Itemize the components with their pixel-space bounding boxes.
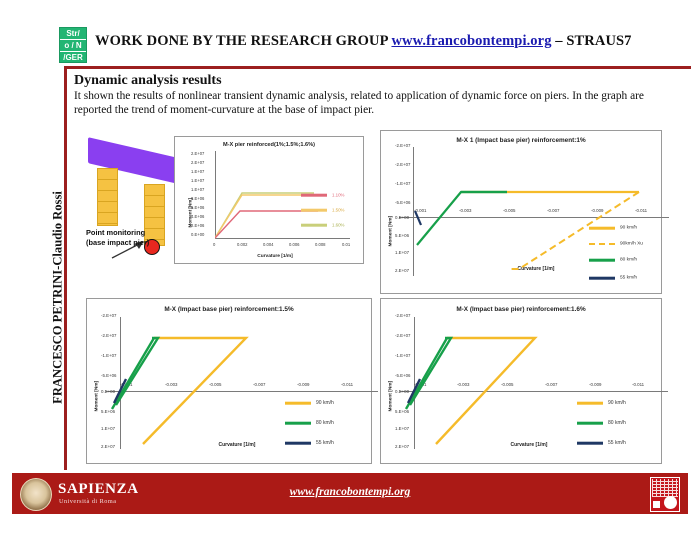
chart3-legend-label-2: 55 km/h — [316, 440, 334, 446]
chart1-ytick-6: 6.E+06 — [191, 205, 204, 210]
stronger-logo: Str/ o / N /GER — [59, 27, 87, 63]
chart2-legend-label-0: 90 km/h — [620, 226, 637, 231]
chart1-ytick-3: 1.E+07 — [191, 178, 204, 183]
chart4-legend-swatch-1 — [577, 422, 603, 425]
chart1-xtick-0: 0 — [213, 242, 215, 247]
chart2-legend-swatch-0 — [589, 227, 615, 230]
chart1-legend-item-1: 1.50% — [301, 206, 361, 214]
chart4-legend-item-0: 90 km/h — [577, 399, 653, 407]
chart-panel-impact-16pc: M-X (Impact base pier) reinforcement:1.6… — [380, 298, 662, 464]
chart3-legend-label-1: 80 km/h — [316, 420, 334, 426]
chart1-ytick-5: 8.E+06 — [191, 196, 204, 201]
chart3-plot-area — [106, 317, 378, 449]
chart1-title: M-X pier reinforced(1%;1.5%;1.6%) — [175, 142, 363, 148]
section-title: Dynamic analysis results — [74, 73, 222, 89]
sapienza-subtitle: Università di Roma — [59, 498, 116, 505]
chart4-legend-swatch-0 — [577, 402, 603, 405]
chart4-legend-swatch-2 — [577, 442, 603, 445]
chart1-legend-item-2: 1.60% — [301, 221, 361, 229]
stronger-logo-line-3: /GER — [60, 52, 86, 64]
chart3-legend-item-2: 55 km/h — [285, 439, 361, 447]
chart1-xtick-3: 0.006 — [289, 242, 299, 247]
chart1-ytick-0: 2.E+07 — [191, 151, 204, 156]
chart4-legend-item-2: 55 km/h — [577, 439, 653, 447]
chart1-legend-item-0: 1.10% — [301, 191, 361, 199]
chart1-ytick-4: 1.E+07 — [191, 187, 204, 192]
chart2-legend-label-1: 90km/h Xu — [620, 242, 643, 247]
chart1-ytick-2: 1.E+07 — [191, 169, 204, 174]
chart1-ylabel: Moment [Nm] — [188, 176, 193, 228]
chart4-legend-label-2: 55 km/h — [608, 440, 626, 446]
chart1-xtick-5: 0.01 — [342, 242, 350, 247]
federation-logo — [650, 477, 680, 512]
chart1-ytick-9: 0.E+00 — [191, 232, 204, 237]
chart1-ytick-7: 4.E+06 — [191, 214, 204, 219]
chart3-legend-swatch-2 — [285, 442, 311, 445]
chart3-legend-item-1: 80 km/h — [285, 419, 361, 427]
footer-website-link[interactable]: www.francobontempi.org — [12, 485, 688, 498]
header-website-link[interactable]: www.francobontempi.org — [391, 33, 551, 49]
chart1-legend-label-1: 1.50% — [332, 208, 344, 213]
chart4-plot-area — [400, 317, 668, 449]
chart2-title: M-X 1 (Impact base pier) reinforcement:1… — [381, 137, 661, 144]
section-paragraph: It shown the results of nonlinear transi… — [74, 90, 674, 117]
chart4-title: M-X (Impact base pier) reinforcement:1.6… — [381, 306, 661, 313]
chart1-legend-swatch-0 — [301, 194, 327, 197]
stronger-logo-line-2: o / N — [60, 40, 86, 52]
chart1-ytick-8: 2.E+06 — [191, 223, 204, 228]
chart3-legend-label-0: 90 km/h — [316, 400, 334, 406]
header-divider — [64, 66, 691, 69]
chart1-xtick-4: 0.008 — [315, 242, 325, 247]
page-title-prefix: WORK DONE BY THE RESEARCH GROUP — [95, 33, 391, 49]
chart1-legend-label-2: 1.60% — [332, 223, 344, 228]
chart1-xtick-1: 0.002 — [237, 242, 247, 247]
chart2-legend-item-3: 55 km/h — [589, 274, 663, 282]
chart3-title: M-X (Impact base pier) reinforcement:1.5… — [87, 306, 371, 313]
chart3-legend-item-0: 90 km/h — [285, 399, 361, 407]
chart1-xtick-2: 0.004 — [263, 242, 273, 247]
chart2-legend-swatch-2 — [589, 259, 615, 262]
chart2-legend-label-2: 80 km/h — [620, 258, 637, 263]
chart1-legend-label-0: 1.10% — [332, 193, 344, 198]
chart4-legend-label-1: 80 km/h — [608, 420, 626, 426]
chart1-ytick-1: 2.E+07 — [191, 160, 204, 165]
chart-panel-impact-1pc: M-X 1 (Impact base pier) reinforcement:1… — [380, 130, 662, 294]
slide-root: Str/ o / N /GER WORK DONE BY THE RESEARC… — [0, 0, 700, 540]
author-sidebar: FRANCESCO PETRINI-Claudio Rossi — [51, 178, 66, 418]
page-title: WORK DONE BY THE RESEARCH GROUP www.fran… — [95, 33, 675, 50]
chart4-legend-item-1: 80 km/h — [577, 419, 653, 427]
chart2-ylabel: Moment [Nm] — [389, 191, 394, 247]
page-title-suffix: – STRAUS7 — [552, 33, 632, 49]
chart4-legend-label-0: 90 km/h — [608, 400, 626, 406]
chart-panel-impact-15pc: M-X (Impact base pier) reinforcement:1.5… — [86, 298, 372, 464]
chart2-legend-label-3: 55 km/h — [620, 276, 637, 281]
chart2-legend-swatch-3 — [589, 277, 615, 280]
chart4-ylabel: Moment [Nm] — [389, 356, 394, 412]
pier-left — [97, 168, 118, 226]
footer-bar: SAPIENZA Università di Roma www.francobo… — [12, 473, 688, 514]
chart1-legend-swatch-2 — [301, 224, 327, 227]
chart2-legend-item-2: 80 km/h — [589, 256, 663, 264]
chart2-legend-item-0: 90 km/h — [589, 224, 663, 232]
chart-panel-pier-reinforced: M-X pier reinforced(1%;1.5%;1.6%) Moment… — [174, 136, 364, 264]
chart3-ylabel: Moment [Nm] — [95, 356, 100, 412]
stronger-logo-line-1: Str/ — [60, 28, 86, 40]
chart2-legend-item-1: 90km/h Xu — [589, 240, 663, 248]
chart3-legend-swatch-0 — [285, 402, 311, 405]
chart2-legend-swatch-1 — [589, 243, 615, 245]
chart3-legend-swatch-1 — [285, 422, 311, 425]
chart1-legend-swatch-1 — [301, 209, 327, 212]
chart1-xlabel: Curvature [1/m] — [205, 254, 345, 259]
